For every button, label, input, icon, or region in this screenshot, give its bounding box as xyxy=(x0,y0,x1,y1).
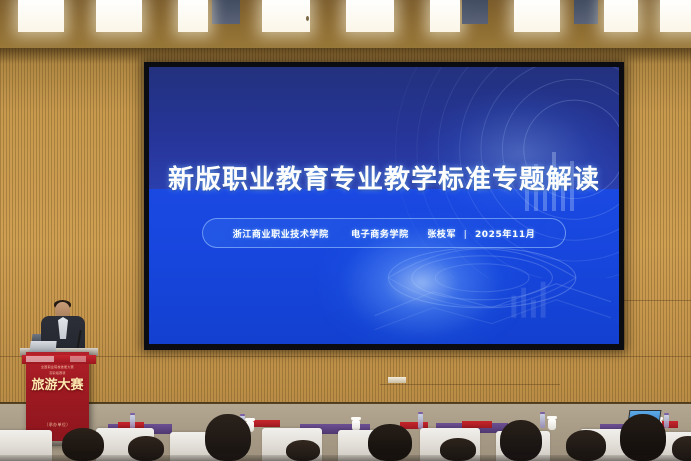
bottle-cap xyxy=(240,414,245,416)
ceiling-light xyxy=(346,0,394,32)
podium-logo-left xyxy=(26,356,54,362)
ceiling-vent xyxy=(212,0,240,24)
bottle-cap xyxy=(664,413,669,415)
bottle-cap xyxy=(418,412,423,414)
ceiling-light xyxy=(660,0,691,32)
subtitle-department: 电子商务学院 xyxy=(351,230,409,240)
water-bottle xyxy=(418,414,423,429)
podium-banner-line: 高职组赛项 xyxy=(26,371,89,375)
podium-logo-right xyxy=(70,356,86,362)
paper-cup-lid xyxy=(351,417,361,420)
ceiling-vent xyxy=(574,0,598,24)
presentation-photo-scene: 新版职业教育专业教学标准专题解读 浙江商业职业技术学院 电子商务学院 张枝军 |… xyxy=(0,0,691,461)
subtitle-presenter: 张枝军 xyxy=(427,230,456,240)
slide-subtitle-pill: 浙江商业职业技术学院 电子商务学院 张枝军 | 2025年11月 xyxy=(202,218,567,248)
ceiling-light xyxy=(514,0,560,32)
ceiling-light xyxy=(262,0,310,32)
ceiling-light xyxy=(604,0,638,32)
audience-head xyxy=(620,414,666,461)
audience-head xyxy=(205,414,251,461)
subtitle-gap xyxy=(333,230,346,240)
foreground-shadow xyxy=(0,455,691,461)
bottle-cap xyxy=(540,412,545,414)
water-bottle xyxy=(664,415,669,428)
table-item-box xyxy=(462,421,492,428)
subtitle-date: 2025年11月 xyxy=(475,230,535,240)
paper-cup xyxy=(548,419,556,430)
podium-banner-title: 旅游大赛 xyxy=(26,378,89,393)
wall-seam xyxy=(380,384,560,385)
paper-cup-lid xyxy=(547,416,557,419)
subtitle-gap2 xyxy=(413,230,423,240)
ceiling-light xyxy=(430,0,460,32)
wall-sign xyxy=(388,377,406,383)
subtitle-institution: 浙江商业职业技术学院 xyxy=(233,230,329,240)
ceiling-light xyxy=(178,0,208,32)
slide-title: 新版职业教育专业教学标准专题解读 xyxy=(168,159,600,196)
ceiling-light xyxy=(18,0,64,32)
podium-banner-header: 全国职业院校技能大赛 xyxy=(26,365,89,369)
paper-cup-lid xyxy=(245,418,255,421)
ceiling-fixture-dot xyxy=(306,16,309,21)
wall-seam xyxy=(0,356,691,357)
water-bottle xyxy=(540,414,545,428)
subtitle-separator: | xyxy=(461,230,471,240)
table-item-box xyxy=(250,420,280,427)
bottle-cap xyxy=(130,413,135,415)
ceiling xyxy=(0,0,691,52)
ceiling-light xyxy=(96,0,142,32)
ceiling-vent xyxy=(462,0,488,24)
slide-text-block: 新版职业教育专业教学标准专题解读 浙江商业职业技术学院 电子商务学院 张枝军 |… xyxy=(149,67,619,344)
water-bottle xyxy=(130,415,135,429)
led-screen[interactable]: 新版职业教育专业教学标准专题解读 浙江商业职业技术学院 电子商务学院 张枝军 |… xyxy=(149,67,619,344)
